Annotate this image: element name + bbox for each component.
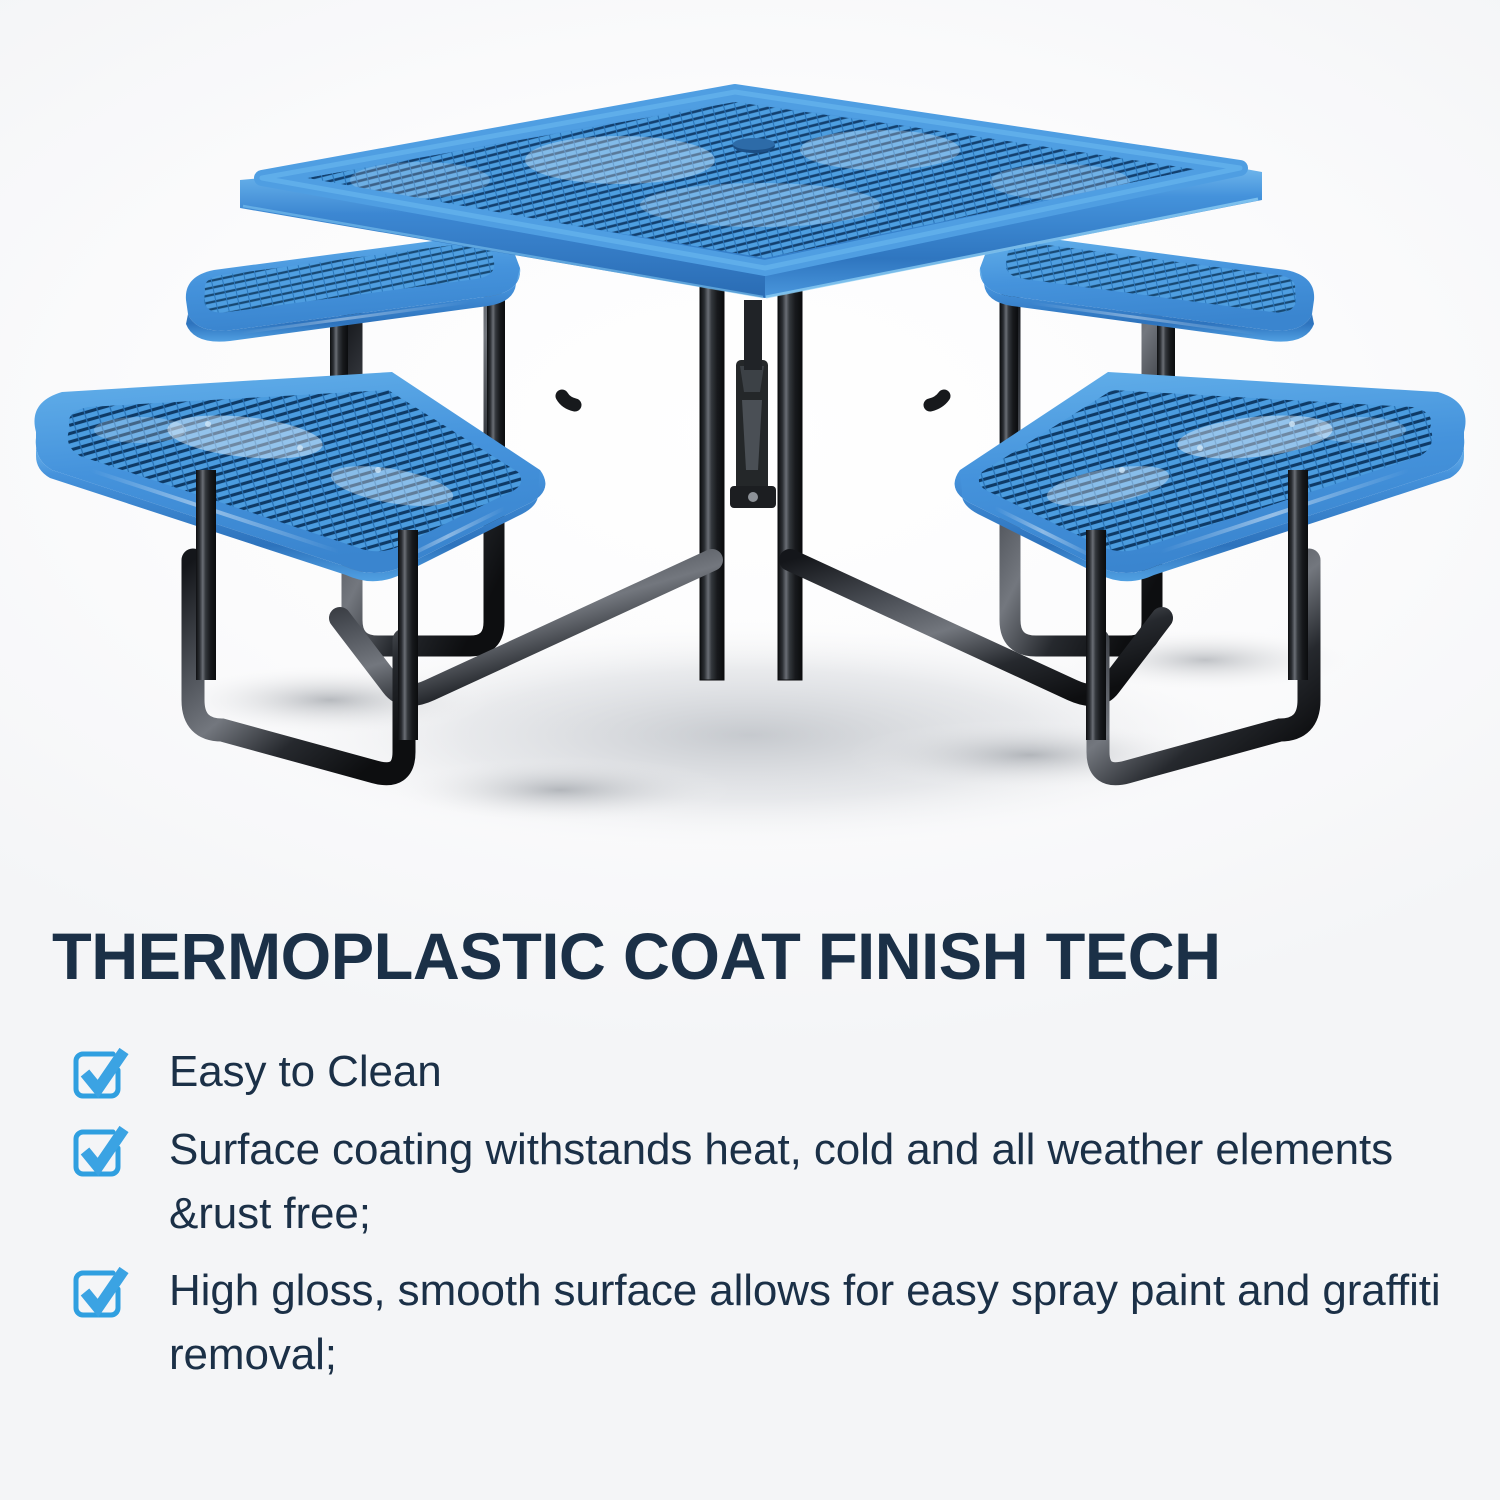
product-feature-page: THERMOPLASTIC COAT FINISH TECH Easy to C… (0, 0, 1500, 1500)
picnic-table-illustration (0, 0, 1500, 900)
bench-seat-front-right (955, 372, 1466, 581)
bench-seat-front-left (34, 372, 545, 581)
list-item-label: Easy to Clean (169, 1040, 1472, 1104)
page-title: THERMOPLASTIC COAT FINISH TECH (52, 922, 1431, 992)
list-item: High gloss, smooth surface allows for ea… (52, 1259, 1472, 1387)
list-item: Easy to Clean (52, 1040, 1472, 1104)
floor-shadows (165, 617, 1355, 853)
list-item-label: High gloss, smooth surface allows for ea… (169, 1259, 1472, 1387)
list-item: Surface coating withstands heat, cold an… (52, 1118, 1472, 1246)
checkbox-checked-icon (68, 1122, 130, 1184)
product-image (0, 0, 1500, 900)
feature-list: Easy to Clean Surface coating withstands… (52, 1040, 1472, 1401)
list-item-label: Surface coating withstands heat, cold an… (169, 1118, 1472, 1246)
checkbox-checked-icon (68, 1263, 130, 1325)
frame-center-support (562, 300, 944, 508)
feature-content: THERMOPLASTIC COAT FINISH TECH Easy to C… (0, 900, 1500, 1500)
checkbox-checked-icon (68, 1044, 130, 1106)
